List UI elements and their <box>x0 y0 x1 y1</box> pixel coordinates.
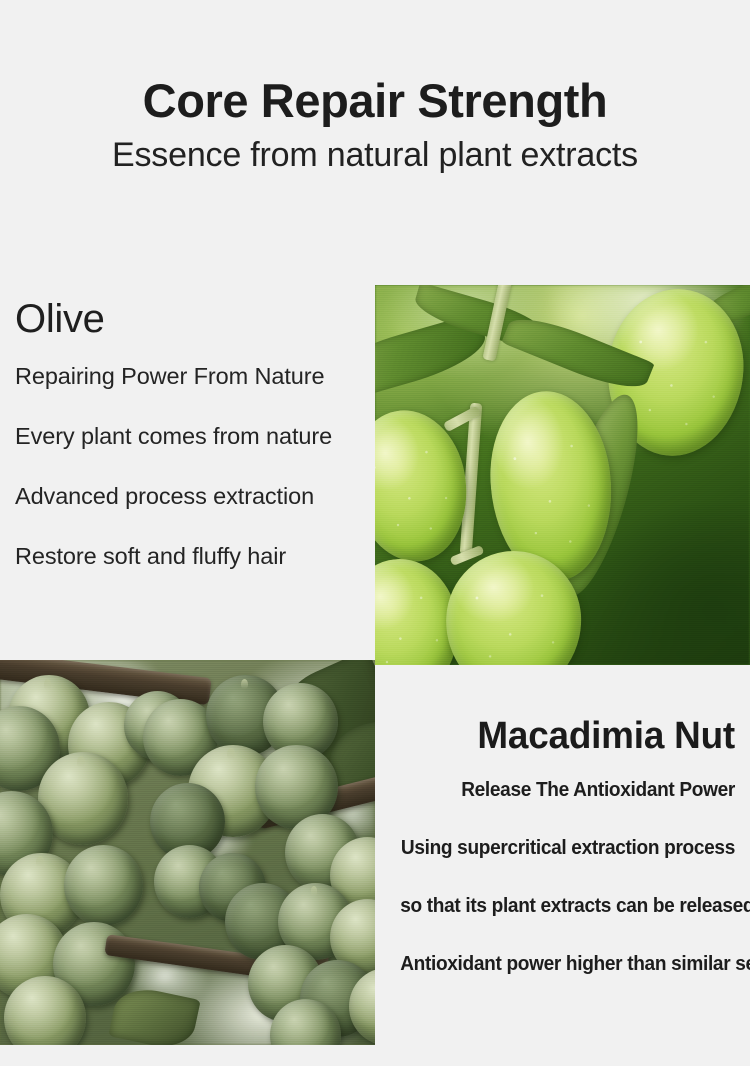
olive-heading: Olive <box>15 298 373 340</box>
nut-tip <box>227 748 235 760</box>
olive-text-block: Olive Repairing Power From Nature Every … <box>15 298 373 601</box>
page-title: Core Repair Strength <box>0 76 750 127</box>
header-block: Core Repair Strength Essence from natura… <box>0 0 750 200</box>
macadamia-heading: Macadimia Nut <box>386 716 735 757</box>
olive-photo <box>375 285 750 665</box>
list-item: Release The Antioxidant Power <box>400 777 735 835</box>
nut-tip <box>77 756 85 768</box>
macadamia-nut <box>64 845 143 926</box>
list-item: Every plant comes from nature <box>15 421 373 481</box>
list-item: Repairing Power From Nature <box>15 361 373 421</box>
macadamia-benefit-list: Release The Antioxidant Power Using supe… <box>375 777 735 1009</box>
macadamia-photo <box>0 660 375 1045</box>
list-item: Advanced process extraction <box>15 481 373 541</box>
nut-tip <box>36 856 43 867</box>
list-item: Antioxidant power higher than similar se… <box>400 951 735 1009</box>
product-infographic: Core Repair Strength Essence from natura… <box>0 0 750 1066</box>
list-item: Restore soft and fluffy hair <box>15 541 373 601</box>
olive-benefit-list: Repairing Power From Nature Every plant … <box>15 361 373 601</box>
list-item: Using supercritical extraction process <box>400 835 735 893</box>
nut-tip <box>241 679 248 690</box>
nut-tip <box>44 679 51 690</box>
list-item: so that its plant extracts can be releas… <box>400 893 735 951</box>
page-subtitle: Essence from natural plant extracts <box>0 136 750 175</box>
nut-tip <box>311 886 318 896</box>
macadamia-text-block: Macadimia Nut Release The Antioxidant Po… <box>375 716 735 1009</box>
